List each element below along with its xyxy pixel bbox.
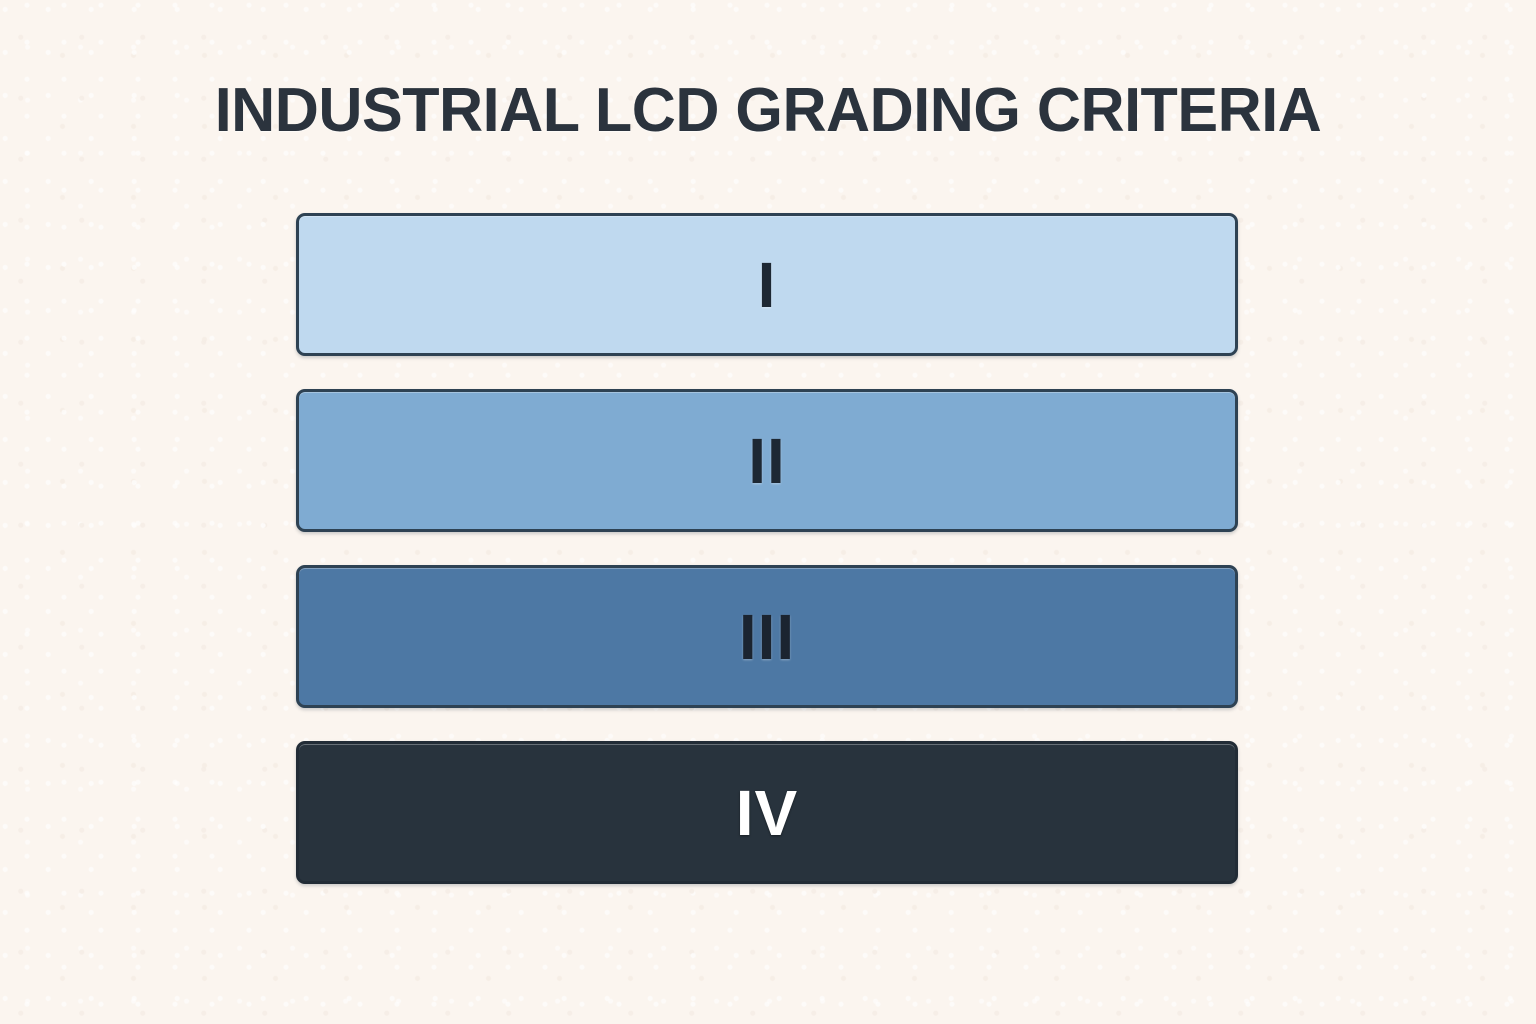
- page-title: INDUSTRIAL LCD GRADING CRITERIA: [12, 78, 1525, 144]
- grade-bar-stack: I II III IV: [296, 213, 1238, 884]
- grade-label-iii: III: [739, 605, 795, 669]
- grade-bar-iv[interactable]: IV: [296, 741, 1238, 884]
- grading-criteria-page: INDUSTRIAL LCD GRADING CRITERIA I II III…: [0, 0, 1536, 1024]
- grade-bar-i[interactable]: I: [296, 213, 1238, 356]
- grade-label-iv: IV: [736, 781, 798, 845]
- grade-label-ii: II: [748, 429, 786, 493]
- grade-bar-ii[interactable]: II: [296, 389, 1238, 532]
- grade-label-i: I: [758, 253, 777, 317]
- grade-bar-iii[interactable]: III: [296, 565, 1238, 708]
